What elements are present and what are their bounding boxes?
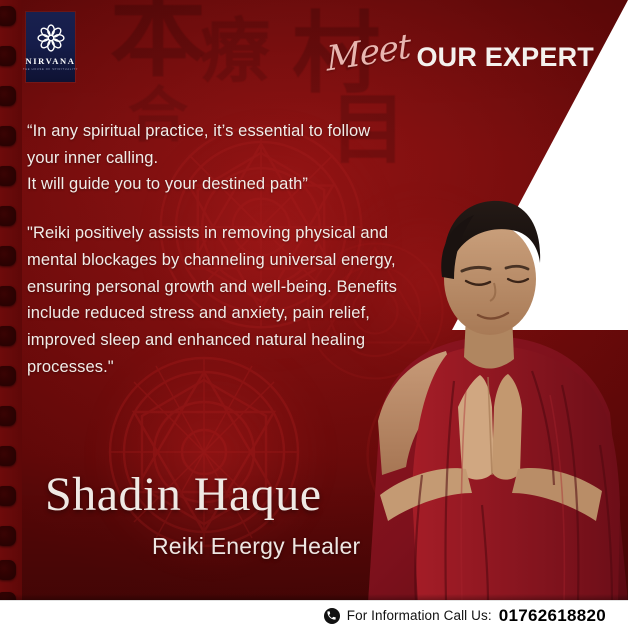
poster-canvas: 本 村 療 目 合 [0, 0, 628, 630]
logo-tagline: THE HOUSE OF SPIRITUALITY [23, 68, 78, 71]
meet-script-word: Meet [325, 31, 410, 75]
phone-number[interactable]: 01762618820 [499, 606, 606, 626]
quote-one-line-1: “In any spiritual practice, it’s essenti… [27, 118, 409, 145]
phone-glyph [326, 610, 337, 621]
quote-block: “In any spiritual practice, it’s essenti… [27, 118, 409, 380]
lotus-mandala-icon [36, 23, 66, 53]
phone-icon [324, 608, 340, 624]
quote-one-line-2: your inner calling. [27, 145, 409, 172]
call-us-label: For Information Call Us: [347, 608, 492, 623]
left-edge-strip [0, 0, 22, 630]
our-expert-label: OUR EXPERT [416, 44, 594, 71]
quote-one-line-3: It will guide you to your destined path” [27, 171, 409, 198]
expert-role: Reiki Energy Healer [152, 533, 360, 560]
quote-two: "Reiki positively assists in removing ph… [27, 220, 409, 380]
nirvana-logo[interactable]: NIRVANA THE HOUSE OF SPIRITUALITY [26, 12, 75, 82]
contact-bar: For Information Call Us: 01762618820 [0, 600, 628, 630]
expert-name: Shadin Haque [45, 471, 322, 519]
logo-wordmark: NIRVANA [26, 56, 76, 66]
meet-our-expert-header: Meet OUR EXPERT [326, 38, 594, 71]
